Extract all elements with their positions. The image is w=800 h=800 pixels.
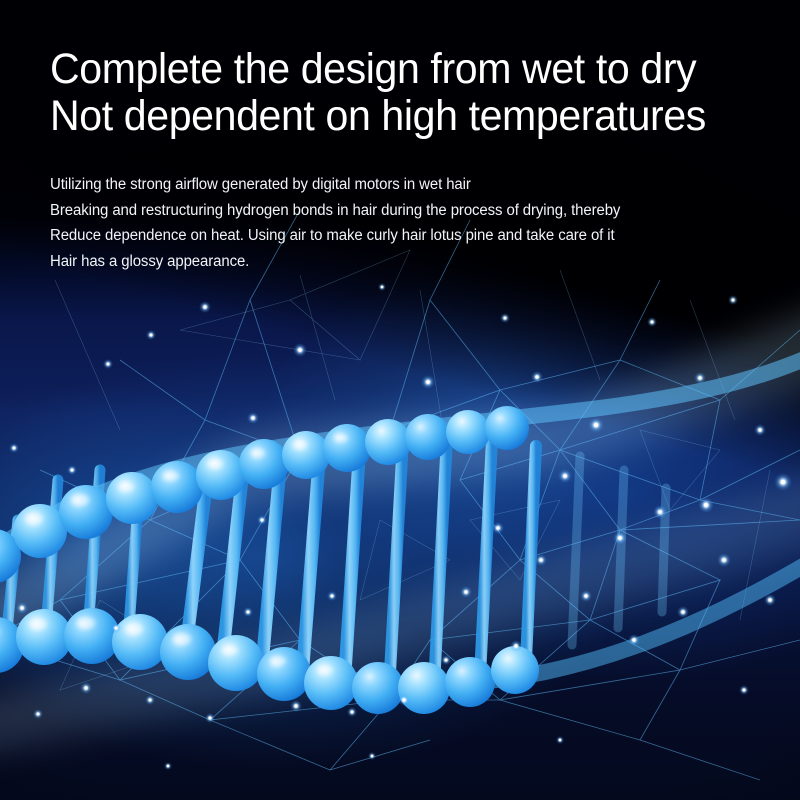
headline-line-2: Not dependent on high temperatures (50, 93, 747, 140)
body-line-3: Reduce dependence on heat. Using air to … (50, 223, 754, 249)
page-title: Complete the design from wet to dry Not … (50, 46, 747, 140)
copy-block: Complete the design from wet to dry Not … (50, 46, 780, 274)
body-line-4: Hair has a glossy appearance. (50, 249, 754, 275)
body-paragraph: Utilizing the strong airflow generated b… (50, 172, 754, 274)
poster-canvas: Complete the design from wet to dry Not … (0, 0, 800, 800)
body-line-2: Breaking and restructuring hydrogen bond… (50, 198, 754, 224)
body-line-1: Utilizing the strong airflow generated b… (50, 172, 754, 198)
headline-line-1: Complete the design from wet to dry (50, 46, 747, 93)
